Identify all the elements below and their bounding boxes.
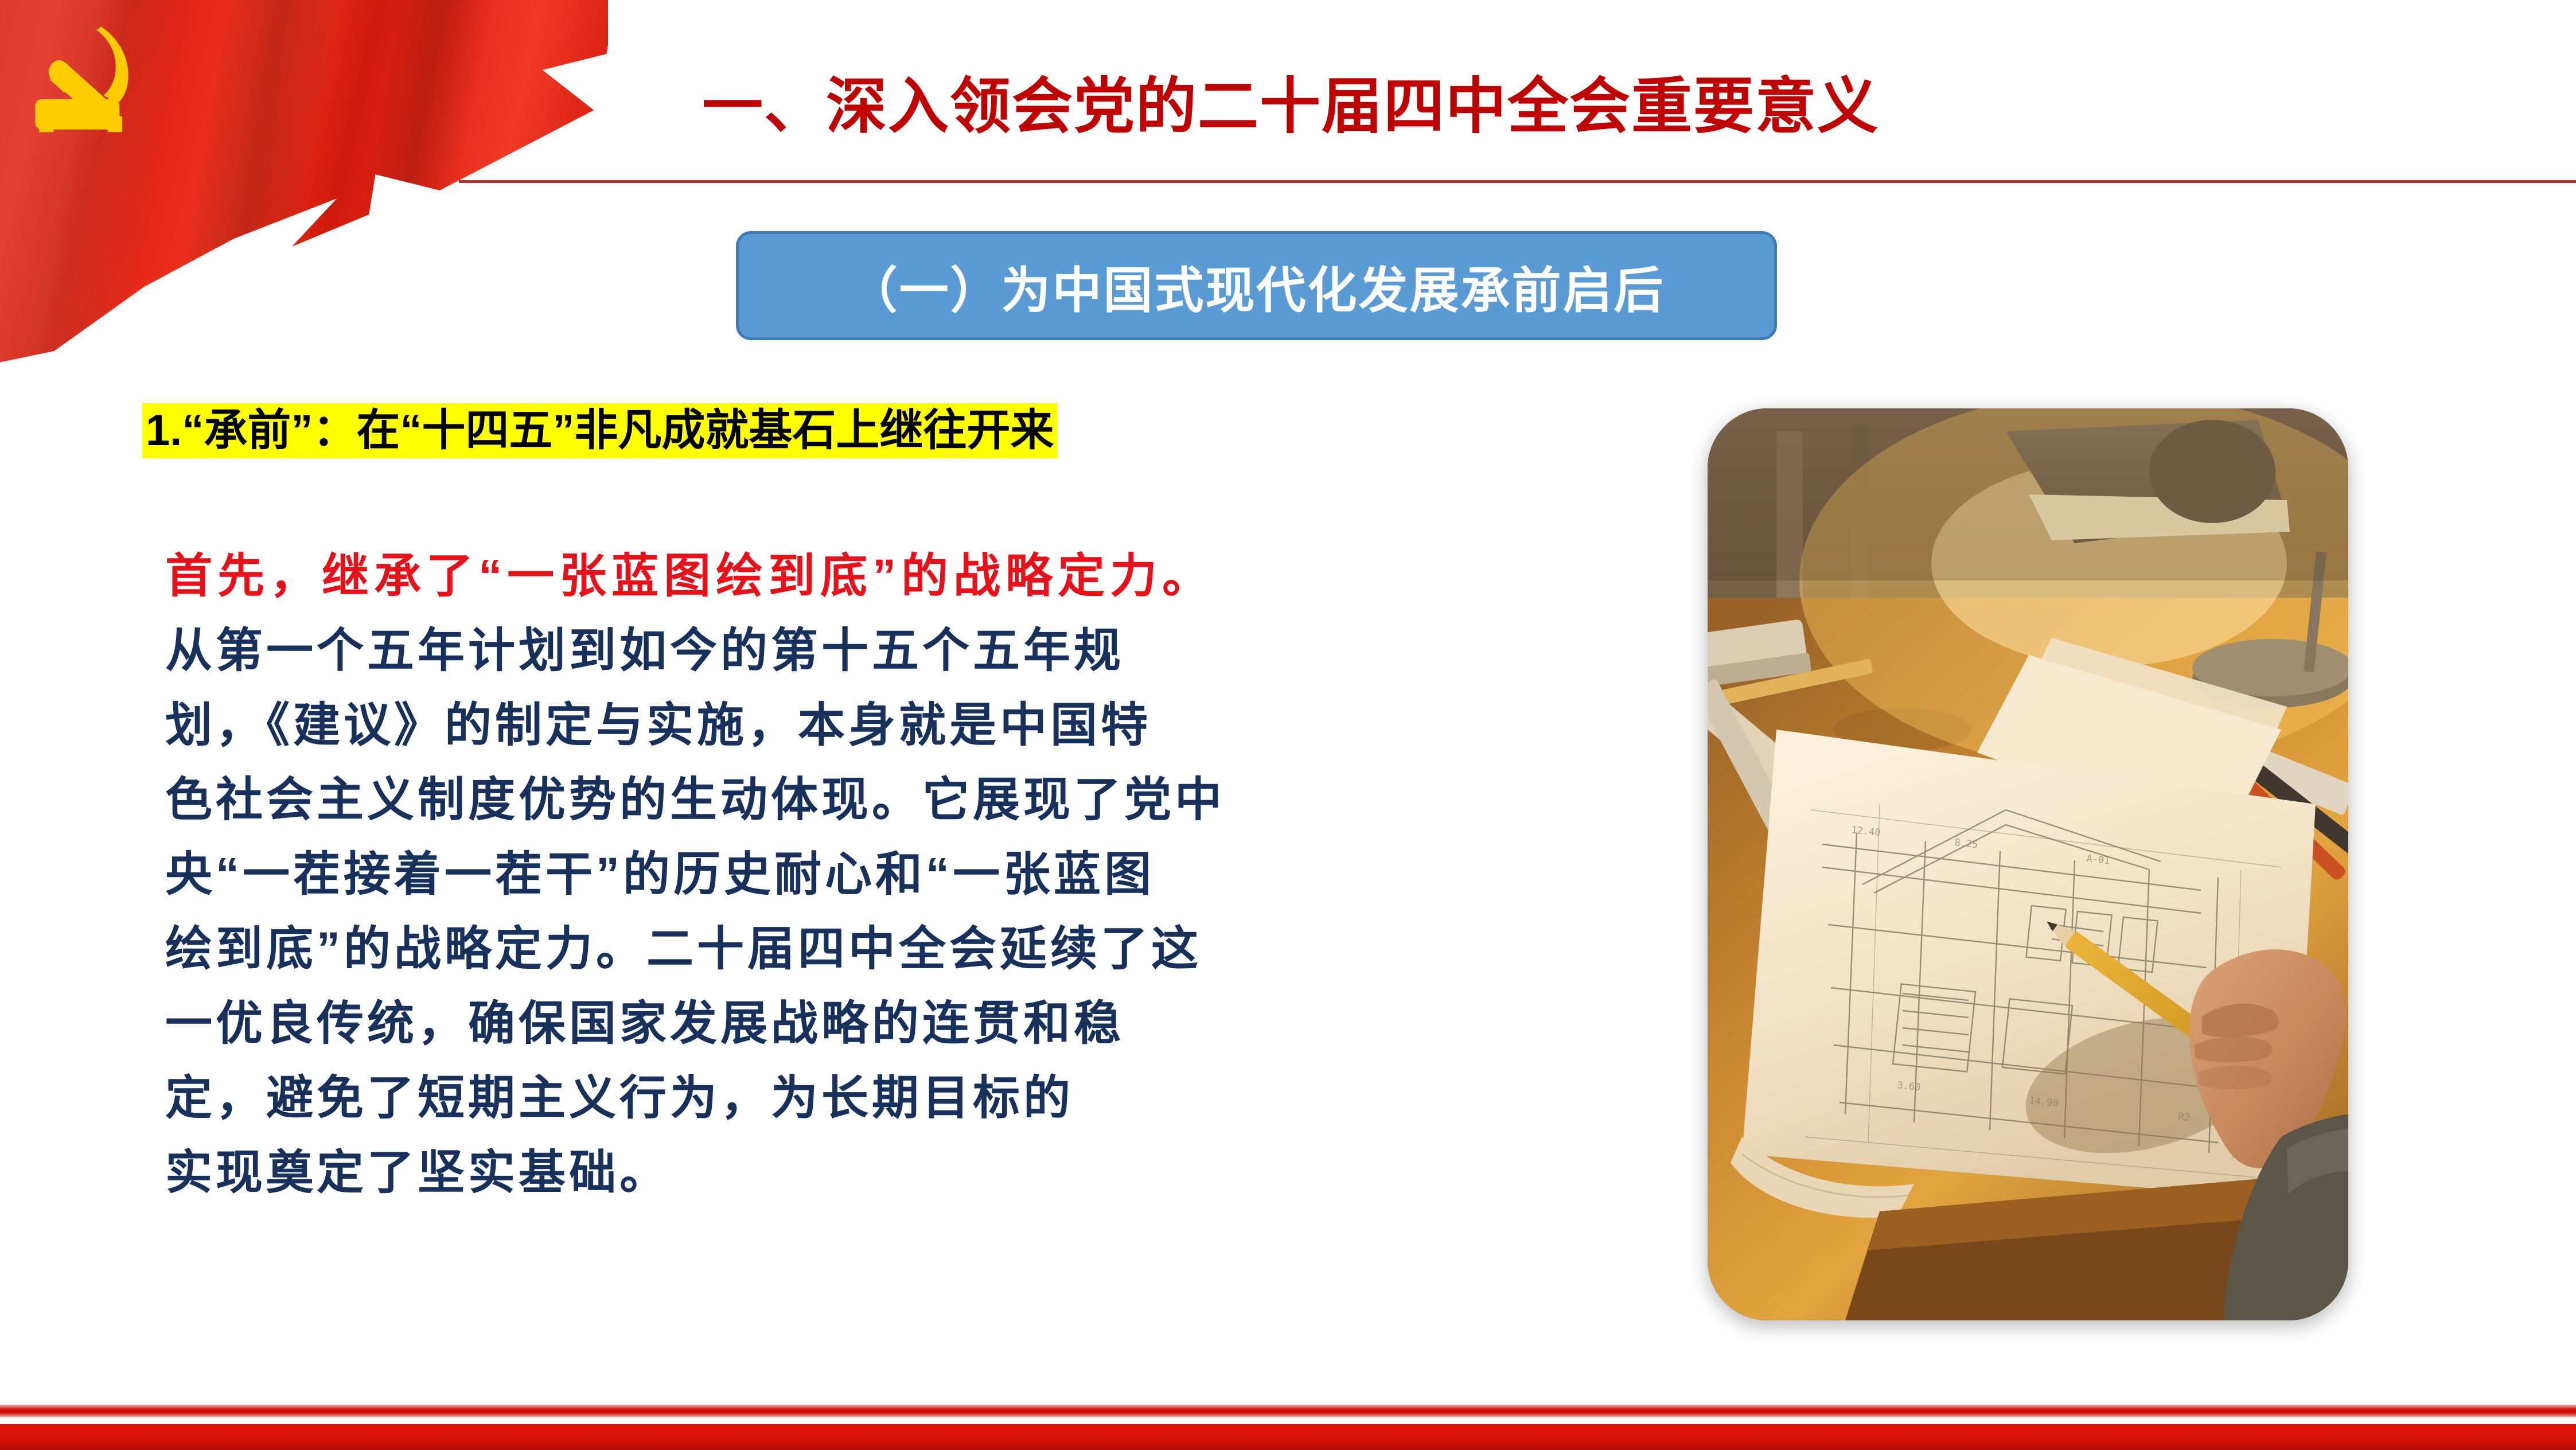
body-line: 央“一茬接着一茬干”的历史耐心和“一张蓝图 bbox=[165, 837, 1634, 912]
body-line: 绘到底”的战略定力。二十届四中全会延续了这 bbox=[165, 912, 1634, 987]
body-line: 一优良传统，确保国家发展战略的连贯和稳 bbox=[165, 987, 1634, 1061]
body-line: 首先，继承了“一张蓝图绘到底”的战略定力。 bbox=[165, 539, 1634, 614]
body-line: 从第一个五年计划到如今的第十五个五年规 bbox=[165, 614, 1634, 688]
sub-heading-label: 1.“承前”：在“十四五”非凡成就基石上继往开来 bbox=[146, 409, 1054, 453]
hammer-and-sickle-icon bbox=[30, 16, 162, 148]
section-banner: （一）为中国式现代化发展承前启后 bbox=[736, 231, 1777, 340]
blueprint-desk-illustration: 12.40 8.25 A-01 3.60 14.90 R2 bbox=[1708, 408, 2348, 1320]
flag-fold-shading bbox=[0, 0, 608, 367]
body-line: 实现奠定了坚实基础。 bbox=[165, 1136, 1634, 1210]
sub-heading-highlight: 1.“承前”：在“十四五”非凡成就基石上继往开来 bbox=[142, 403, 1057, 458]
footer-accent-line bbox=[0, 1405, 2576, 1417]
header-divider bbox=[459, 180, 2576, 183]
body-line: 色社会主义制度优势的生动体现。它展现了党中 bbox=[165, 763, 1634, 837]
flag-cloth bbox=[0, 0, 608, 367]
section-banner-label: （一）为中国式现代化发展承前启后 bbox=[848, 250, 1665, 322]
body-line: 定，避免了短期主义行为，为长期目标的 bbox=[165, 1061, 1634, 1136]
blueprint-desk-photo: 12.40 8.25 A-01 3.60 14.90 R2 bbox=[1708, 408, 2348, 1320]
page-title: 一、深入领会党的二十届四中全会重要意义 bbox=[619, 73, 1962, 141]
body-line: 划，《建议》的制定与实施，本身就是中国特 bbox=[165, 688, 1634, 763]
footer-bar bbox=[0, 1424, 2576, 1450]
body-paragraph: 首先，继承了“一张蓝图绘到底”的战略定力。 从第一个五年计划到如今的第十五个五年… bbox=[165, 539, 1634, 1210]
party-flag-decoration bbox=[0, 0, 608, 367]
